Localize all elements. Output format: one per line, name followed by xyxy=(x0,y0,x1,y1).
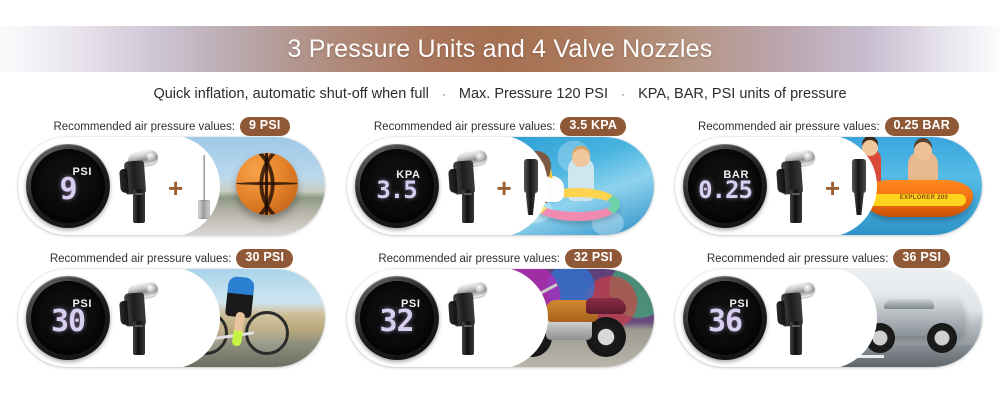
card-caption: Recommended air pressure values: 30 PSI xyxy=(18,250,325,269)
cone-upper xyxy=(852,159,866,193)
pressure-gauge: BAR 0.25 xyxy=(683,144,767,228)
product-card[interactable]: PSI 30 xyxy=(18,269,325,367)
pump-grip xyxy=(776,301,786,325)
cards-row-2: Recommended air pressure values: 30 PSI xyxy=(0,250,1000,367)
product-card[interactable]: EXPLORER 200 BAR 0.25 xyxy=(675,137,982,235)
cards-row-1: Recommended air pressure values: 9 PSI P… xyxy=(0,118,1000,235)
subtitle-separator-2: · xyxy=(612,87,634,101)
pump-grip xyxy=(448,301,458,325)
caption-prefix: Recommended air pressure values: xyxy=(698,121,880,133)
product-card[interactable]: PSI 9 + xyxy=(18,137,325,235)
gauge-value: 36 xyxy=(708,307,742,337)
caption-prefix: Recommended air pressure values: xyxy=(50,253,232,265)
caption-prefix: Recommended air pressure values: xyxy=(707,253,889,265)
promo-page: 3 Pressure Units and 4 Valve Nozzles Qui… xyxy=(0,0,1000,410)
scene-photo xyxy=(829,269,983,367)
gauge-face: PSI 9 xyxy=(31,149,105,223)
gauge-face: BAR 0.25 xyxy=(688,149,762,223)
plus-icon: + xyxy=(497,175,512,201)
pump-grip xyxy=(119,169,129,193)
pump-shaft xyxy=(133,321,145,355)
pump-grip xyxy=(448,169,458,193)
header-banner: 3 Pressure Units and 4 Valve Nozzles xyxy=(0,26,1000,72)
pressure-gauge: PSI 32 xyxy=(355,276,439,360)
basketball-scene xyxy=(172,137,326,235)
status-badge: 0.25 BAR xyxy=(885,117,959,135)
motorcycle-scene xyxy=(500,269,654,367)
product-card[interactable]: KPA 3.5 + xyxy=(347,137,654,235)
subtitle: Quick inflation, automatic shut-off when… xyxy=(0,86,1000,102)
scene-photo xyxy=(172,269,326,367)
card-caption: Recommended air pressure values: 3.5 KPA xyxy=(347,118,654,137)
car-wheel-rear xyxy=(927,323,957,353)
subtitle-part-2: Max. Pressure 120 PSI xyxy=(459,86,608,102)
pump-shaft xyxy=(462,189,474,223)
status-badge: 3.5 KPA xyxy=(560,117,626,135)
scene-photo xyxy=(500,269,654,367)
card-cell: Recommended air pressure values: 36 PSI xyxy=(675,250,982,367)
pump-grip xyxy=(119,301,129,325)
air-pump-icon xyxy=(119,283,159,355)
card-caption: Recommended air pressure values: 32 PSI xyxy=(347,250,654,269)
product-card[interactable]: PSI 36 xyxy=(675,269,982,367)
gauge-face: KPA 3.5 xyxy=(360,149,434,223)
plus-icon: + xyxy=(825,175,840,201)
pump-shaft xyxy=(790,321,802,355)
page-title: 3 Pressure Units and 4 Valve Nozzles xyxy=(288,35,713,64)
needle-pin xyxy=(203,155,205,201)
air-pump-icon xyxy=(119,151,159,223)
plus-icon: + xyxy=(168,175,183,201)
air-pump-icon xyxy=(448,151,488,223)
bike-wheel-front xyxy=(184,311,228,355)
moto-seat xyxy=(586,298,626,314)
moto-handlebar xyxy=(526,283,557,302)
caption-prefix: Recommended air pressure values: xyxy=(378,253,560,265)
road-surface xyxy=(829,345,983,367)
gauge-face: PSI 36 xyxy=(688,281,762,355)
gauge-face: PSI 32 xyxy=(360,281,434,355)
card-cell: Recommended air pressure values: 9 PSI P… xyxy=(18,118,325,235)
status-badge: 30 PSI xyxy=(236,249,293,267)
scene-photo xyxy=(172,137,326,235)
gauge-value: 9 xyxy=(59,175,76,205)
gauge-value: 0.25 xyxy=(698,178,752,202)
product-card[interactable]: PSI 32 xyxy=(347,269,654,367)
pump-shaft xyxy=(790,189,802,223)
gauge-face: PSI 30 xyxy=(31,281,105,355)
gauge-value: 32 xyxy=(379,307,413,337)
boat-label: EXPLORER 200 xyxy=(900,195,948,201)
card-cell: Recommended air pressure values: 0.25 BA… xyxy=(675,118,982,235)
pressure-gauge: PSI 30 xyxy=(26,276,110,360)
needle-base xyxy=(198,200,210,219)
caption-prefix: Recommended air pressure values: xyxy=(53,121,235,133)
cone-tip xyxy=(526,191,536,215)
unicorn-float-icon xyxy=(540,176,564,202)
gauge-value: 3.5 xyxy=(376,178,416,202)
cards-grid: Recommended air pressure values: 9 PSI P… xyxy=(0,118,1000,367)
card-caption: Recommended air pressure values: 36 PSI xyxy=(675,250,982,269)
inflatable-boat-icon: EXPLORER 200 xyxy=(862,180,973,217)
basketball-icon xyxy=(236,153,298,215)
gauge-value: 30 xyxy=(51,307,85,337)
card-cell: Recommended air pressure values: 3.5 KPA xyxy=(347,118,654,235)
air-pump-icon xyxy=(448,283,488,355)
pool-float-ring xyxy=(534,188,620,221)
cyclist-leg xyxy=(232,312,246,347)
bicycle-scene xyxy=(172,269,326,367)
cone-tip xyxy=(854,191,864,215)
subtitle-part-3: KPA, BAR, PSI units of pressure xyxy=(638,86,846,102)
pressure-gauge: KPA 3.5 xyxy=(355,144,439,228)
subtitle-separator-1: · xyxy=(433,87,455,101)
subtitle-part-1: Quick inflation, automatic shut-off when… xyxy=(153,86,428,102)
pump-grip xyxy=(776,169,786,193)
card-caption: Recommended air pressure values: 0.25 BA… xyxy=(675,118,982,137)
pump-shaft xyxy=(133,189,145,223)
car-scene xyxy=(829,269,983,367)
pressure-gauge: PSI 9 xyxy=(26,144,110,228)
air-pump-icon xyxy=(776,283,816,355)
status-badge: 9 PSI xyxy=(240,117,290,135)
pressure-gauge: PSI 36 xyxy=(683,276,767,360)
card-cell: Recommended air pressure values: 32 PSI xyxy=(347,250,654,367)
caption-prefix: Recommended air pressure values: xyxy=(374,121,556,133)
cone-nozzle-icon xyxy=(850,159,868,215)
cone-upper xyxy=(524,159,538,193)
card-cell: Recommended air pressure values: 30 PSI xyxy=(18,250,325,367)
status-badge: 36 PSI xyxy=(893,249,950,267)
card-caption: Recommended air pressure values: 9 PSI xyxy=(18,118,325,137)
cone-nozzle-icon xyxy=(522,159,540,215)
needle-nozzle-icon xyxy=(196,155,212,219)
status-badge: 32 PSI xyxy=(565,249,622,267)
pump-shaft xyxy=(462,321,474,355)
air-pump-icon xyxy=(776,151,816,223)
car-cabin xyxy=(884,299,934,309)
